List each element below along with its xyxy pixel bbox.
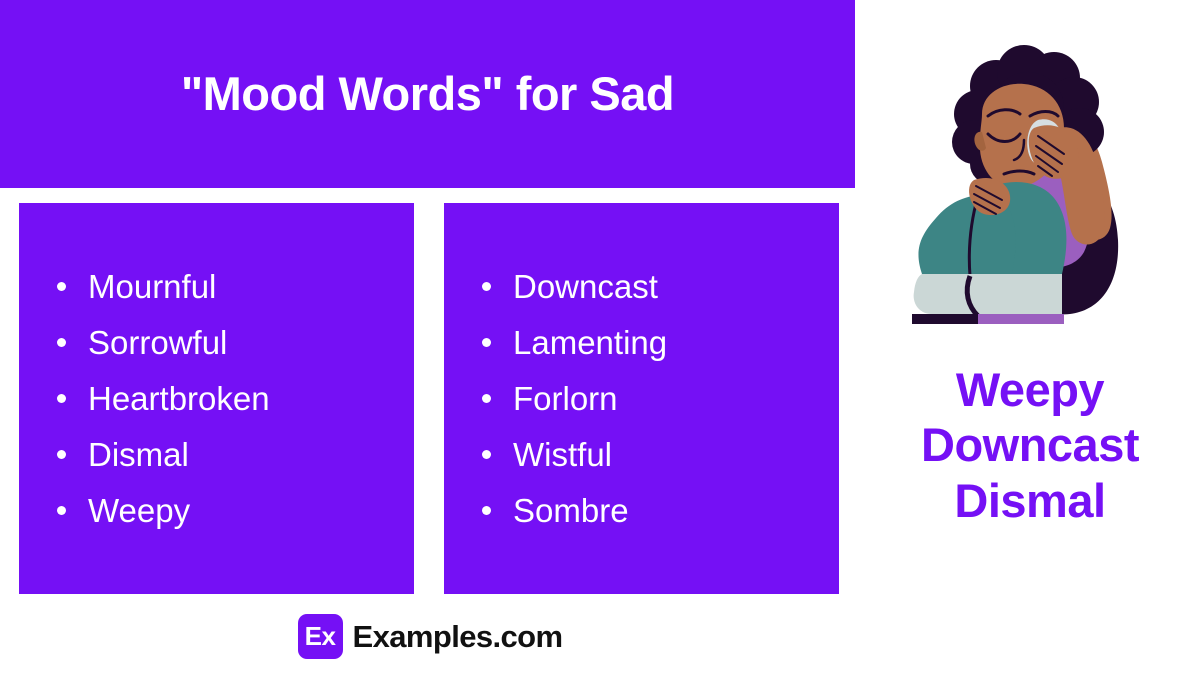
list-item[interactable]: Dismal xyxy=(57,427,414,483)
list-item[interactable]: Mournful xyxy=(57,259,414,315)
main-column: "Mood Words" for Sad Mournful Sorrowful xyxy=(0,0,860,675)
list-item-label: Weepy xyxy=(88,494,190,527)
title-banner: "Mood Words" for Sad xyxy=(0,0,855,188)
left-word-list-card: Mournful Sorrowful Heartbroken Dismal xyxy=(19,203,414,594)
bullet-icon xyxy=(57,394,66,403)
keyword-item: Downcast xyxy=(860,417,1200,472)
sad-person-illustration xyxy=(878,28,1183,348)
bullet-icon xyxy=(57,338,66,347)
list-item[interactable]: Weepy xyxy=(57,483,414,539)
list-item-label: Forlorn xyxy=(513,382,618,415)
bullet-icon xyxy=(482,282,491,291)
keyword-item: Weepy xyxy=(860,362,1200,417)
list-item-label: Heartbroken xyxy=(88,382,270,415)
logo-mark-label: Ex xyxy=(305,623,336,649)
bullet-icon xyxy=(57,506,66,515)
bullet-icon xyxy=(482,338,491,347)
list-item-label: Mournful xyxy=(88,270,216,303)
list-item-label: Sorrowful xyxy=(88,326,227,359)
list-item[interactable]: Sorrowful xyxy=(57,315,414,371)
sidebar-column: Weepy Downcast Dismal xyxy=(860,0,1200,675)
bullet-icon xyxy=(482,506,491,515)
keyword-item: Dismal xyxy=(860,473,1200,528)
bullet-icon xyxy=(482,450,491,459)
bullet-icon xyxy=(482,394,491,403)
list-item[interactable]: Downcast xyxy=(482,259,839,315)
list-item[interactable]: Lamenting xyxy=(482,315,839,371)
list-item[interactable]: Heartbroken xyxy=(57,371,414,427)
poster-canvas: "Mood Words" for Sad Mournful Sorrowful xyxy=(0,0,1200,675)
list-item[interactable]: Sombre xyxy=(482,483,839,539)
list-item-label: Wistful xyxy=(513,438,612,471)
right-word-list: Downcast Lamenting Forlorn Wistful xyxy=(482,259,839,539)
page-title: "Mood Words" for Sad xyxy=(181,68,674,120)
brand-name: Examples.com xyxy=(353,621,563,652)
examples-logo-icon: Ex xyxy=(298,614,343,659)
keyword-stack: Weepy Downcast Dismal xyxy=(860,362,1200,528)
bullet-icon xyxy=(57,450,66,459)
left-word-list: Mournful Sorrowful Heartbroken Dismal xyxy=(57,259,414,539)
right-word-list-card: Downcast Lamenting Forlorn Wistful xyxy=(444,203,839,594)
list-item-label: Dismal xyxy=(88,438,189,471)
list-item[interactable]: Forlorn xyxy=(482,371,839,427)
bullet-icon xyxy=(57,282,66,291)
list-item-label: Lamenting xyxy=(513,326,667,359)
list-item[interactable]: Wistful xyxy=(482,427,839,483)
brand-footer[interactable]: Ex Examples.com xyxy=(0,608,860,664)
word-lists-row: Mournful Sorrowful Heartbroken Dismal xyxy=(19,203,839,594)
list-item-label: Downcast xyxy=(513,270,658,303)
list-item-label: Sombre xyxy=(513,494,629,527)
